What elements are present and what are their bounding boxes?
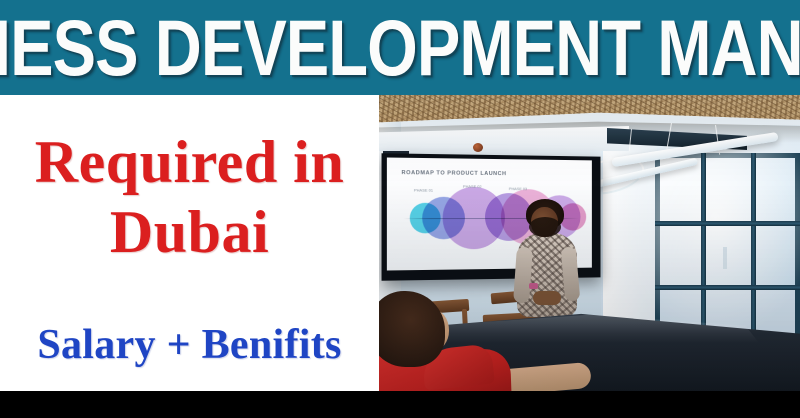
wristwatch (529, 283, 538, 289)
salary-benefits-subline: Salary + Benifits (0, 322, 379, 368)
headline-line-2: Dubai (0, 201, 379, 263)
job-ad-poster: BUSINESS DEVELOPMENT MANAGER Required in… (0, 0, 800, 418)
bottom-black-bar (0, 391, 800, 418)
headline-line-1: Required in (0, 131, 379, 193)
office-meeting-photo: ROADMAP TO PRODUCT LAUNCH PHASE 01 PHASE… (379, 95, 800, 391)
window-mullion-horizontal (655, 221, 800, 226)
ceiling-speaker (473, 143, 483, 152)
page-title: BUSINESS DEVELOPMENT MANAGER (0, 7, 800, 88)
window-handle (723, 247, 727, 269)
header-banner: BUSINESS DEVELOPMENT MANAGER (0, 0, 800, 95)
window-mullion-vertical (751, 153, 756, 353)
window-mullion-horizontal (655, 285, 800, 290)
slide-label: PHASE 03 (509, 187, 527, 192)
left-text-panel: Required in Dubai Salary + Benifits (0, 95, 379, 391)
slide-title: ROADMAP TO PRODUCT LAUNCH (401, 169, 506, 177)
slide-label: PHASE 02 (463, 185, 482, 190)
person-presenter-hands (533, 291, 561, 305)
slide-label: PHASE 01 (414, 189, 433, 194)
person-presenter-hair-back (529, 217, 561, 237)
